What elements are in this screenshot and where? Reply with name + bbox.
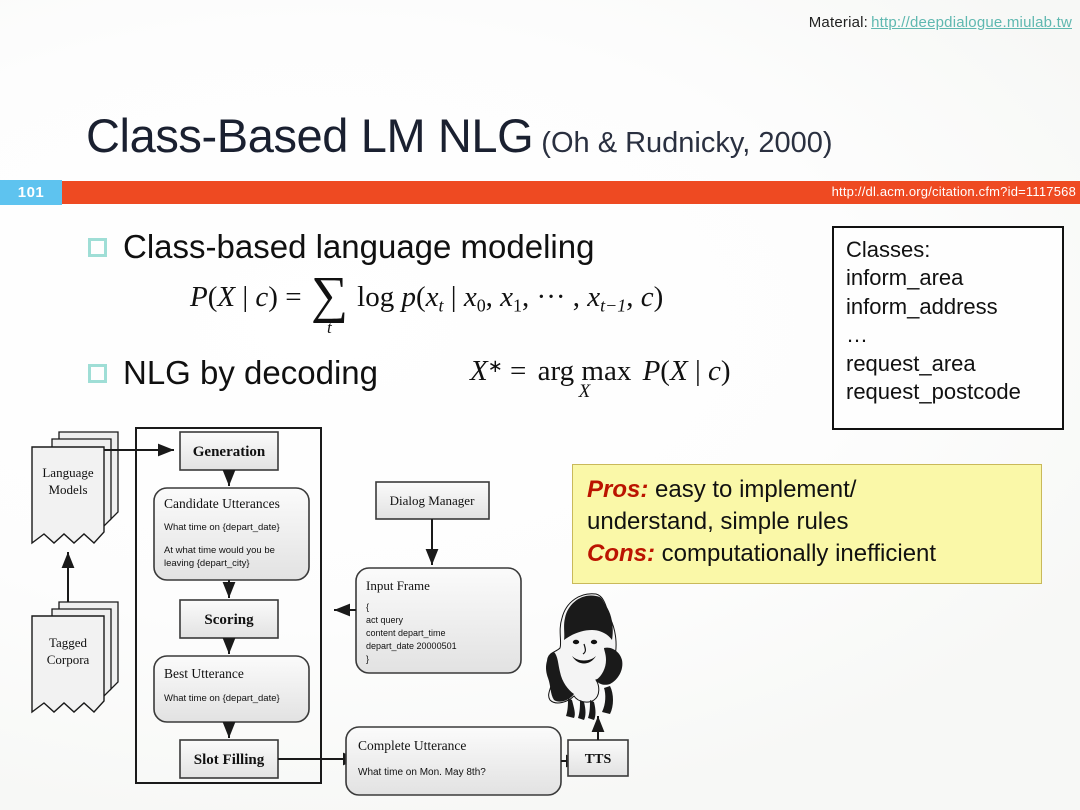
classes-callout-box: Classes: inform_area inform_address … re… (832, 226, 1064, 430)
formula-class-lm: P(X | c) = ∑t log p(xt | x0, x1, ··· , x… (190, 278, 663, 316)
class-item-ellipsis: … (846, 321, 1062, 349)
bullet-item-nlg-decoding: NLG by decoding (88, 354, 378, 392)
class-item: request_area (846, 350, 1062, 378)
formula-decoding: X∗ = arg maxX P(X | c) (470, 355, 731, 388)
reference-url-text: http://dl.acm.org/citation.cfm?id=111756… (832, 184, 1076, 199)
square-bullet-icon (88, 238, 107, 257)
bullet-item-class-based-lm: Class-based language modeling (88, 228, 594, 266)
pros-line: Pros: easy to implement/ (587, 474, 1041, 506)
cons-text: computationally inefficient (655, 540, 936, 567)
argmax-operator: arg maxX (538, 355, 632, 388)
square-bullet-icon (88, 364, 107, 383)
argmax-index-label: X (579, 381, 591, 403)
input-frame-line: } (366, 654, 369, 664)
complete-utterance-line: What time on Mon. May 8th? (358, 767, 486, 778)
class-item: inform_address (846, 293, 1062, 321)
candidate-utterance-line: At what time would you be (164, 545, 275, 556)
candidate-utterance-line: What time on {depart_date} (164, 522, 280, 533)
summation-index-label: t (327, 322, 332, 334)
generation-node: Generation (180, 432, 278, 470)
page-title: Class-Based LM NLG(Oh & Rudnicky, 2000) (86, 108, 833, 163)
tts-label: TTS (585, 752, 612, 767)
language-models-label-line1: Language (42, 465, 93, 480)
material-url-link[interactable]: http://deepdialogue.miulab.tw (871, 14, 1072, 31)
input-frame-line: content depart_time (366, 628, 446, 638)
tts-node: TTS (568, 740, 628, 776)
language-models-label-line2: Models (49, 482, 88, 497)
material-link-line: Material:http://deepdialogue.miulab.tw (809, 14, 1072, 31)
scoring-label: Scoring (204, 612, 254, 628)
complete-utterance-title: Complete Utterance (358, 738, 466, 753)
candidate-utterances-title: Candidate Utterances (164, 496, 280, 511)
complete-utterance-node: Complete Utterance What time on Mon. May… (346, 727, 561, 795)
best-utterance-title: Best Utterance (164, 666, 244, 681)
tagged-corpora-document-stack: Tagged Corpora (32, 602, 118, 712)
candidate-utterances-node: Candidate Utterances What time on {depar… (154, 488, 309, 580)
pros-line-continued: understand, simple rules (587, 506, 1041, 538)
nlg-architecture-diagram: Language Models Tagged Corpora Generatio… (14, 420, 654, 810)
slide-page-number: 101 (0, 180, 62, 205)
input-frame-line: act query (366, 615, 404, 625)
candidate-utterance-line: leaving {depart_city} (164, 558, 250, 569)
input-frame-line: depart_date 20000501 (366, 641, 457, 651)
classes-heading: Classes: (846, 236, 1062, 264)
bullet-label-1: Class-based language modeling (123, 228, 594, 265)
input-frame-node: Input Frame { act query content depart_t… (356, 568, 521, 673)
class-item: inform_area (846, 264, 1062, 292)
user-on-telephone-icon (546, 594, 622, 720)
pros-text-line1: easy to implement/ (648, 476, 856, 503)
best-utterance-line: What time on {depart_date} (164, 693, 280, 704)
class-item: request_postcode (846, 378, 1062, 406)
dialog-manager-label: Dialog Manager (390, 493, 476, 508)
slide: Material:http://deepdialogue.miulab.tw C… (0, 0, 1080, 810)
summation-operator-icon: ∑t (311, 278, 348, 313)
bullet-label-2: NLG by decoding (123, 354, 378, 391)
material-label: Material: (809, 14, 868, 31)
input-frame-line: { (366, 602, 369, 612)
input-frame-title: Input Frame (366, 578, 430, 593)
tagged-corpora-label-line1: Tagged (49, 635, 88, 650)
cons-line: Cons: computationally inefficient (587, 538, 1041, 570)
generation-label: Generation (193, 444, 266, 460)
best-utterance-node: Best Utterance What time on {depart_date… (154, 656, 309, 722)
title-citation-text: (Oh & Rudnicky, 2000) (541, 127, 832, 159)
tagged-corpora-label-line2: Corpora (47, 652, 90, 667)
slot-filling-node: Slot Filling (180, 740, 278, 778)
language-models-document-stack: Language Models (32, 432, 118, 543)
title-main-text: Class-Based LM NLG (86, 109, 533, 162)
slot-filling-label: Slot Filling (194, 752, 265, 768)
scoring-node: Scoring (180, 600, 278, 638)
dialog-manager-node: Dialog Manager (376, 482, 489, 519)
